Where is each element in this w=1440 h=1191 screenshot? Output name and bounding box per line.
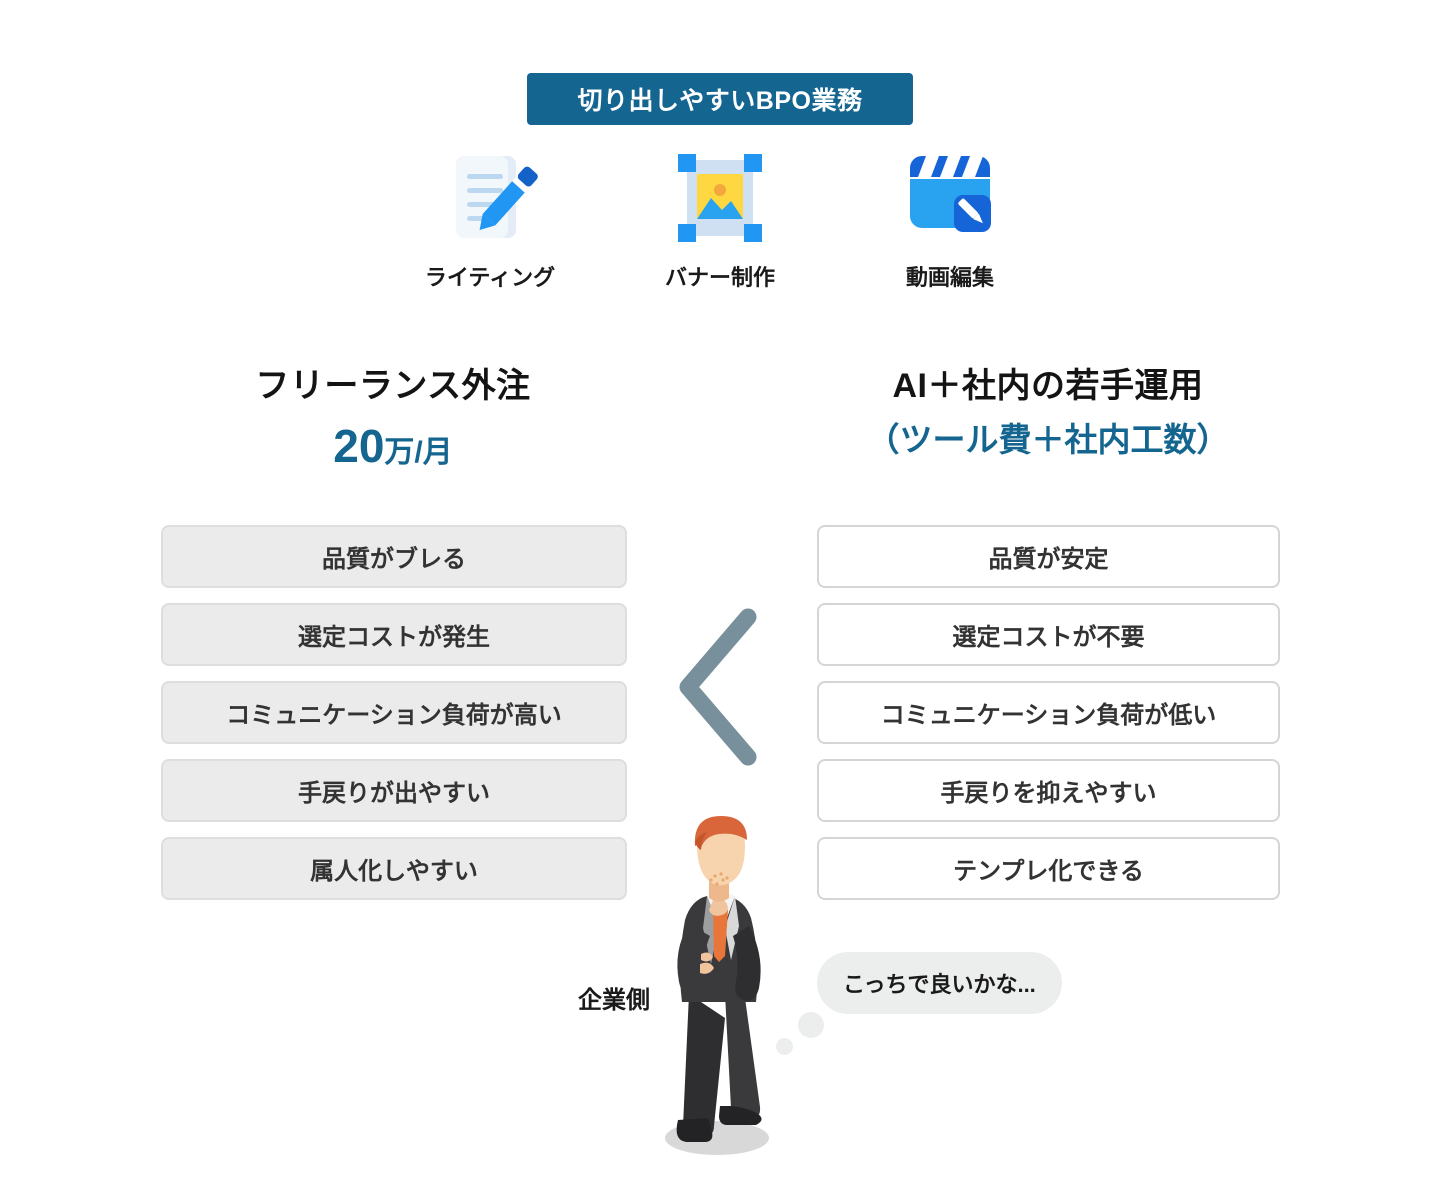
left-column-cost: 20万/月	[153, 423, 633, 469]
list-item: コミュニケーション負荷が低い	[817, 681, 1280, 744]
bpo-task-video: 動画編集	[890, 148, 1010, 298]
list-item: 品質が安定	[817, 525, 1280, 588]
banner-design-icon	[670, 148, 770, 248]
businessman-label: 企業側	[578, 980, 650, 1015]
infographic-canvas: 切り出しやすいBPO業務	[0, 0, 1440, 1191]
thought-bubble-dot-large	[798, 1012, 824, 1038]
list-item: 属人化しやすい	[161, 837, 627, 900]
less-than-chevron-icon	[670, 605, 765, 770]
left-column-title: フリーランス外注	[153, 358, 633, 407]
list-item: 選定コストが不要	[817, 603, 1280, 666]
bpo-task-writing: ライティング	[430, 148, 550, 298]
bpo-task-icon-row: ライティング バナー制作	[405, 148, 1035, 298]
thought-bubble-text: こっちで良いかな...	[843, 967, 1036, 999]
right-column-heading: AI＋社内の若手運用 （ツール費＋社内工数）	[808, 358, 1288, 456]
section-banner-label: 切り出しやすいBPO業務	[578, 81, 863, 117]
left-column-cost-value: 20	[333, 420, 384, 472]
bpo-task-banner: バナー制作	[660, 148, 780, 298]
right-column-title: AI＋社内の若手運用	[808, 358, 1288, 407]
bpo-task-writing-label: ライティング	[425, 260, 555, 292]
bpo-task-video-label: 動画編集	[906, 260, 994, 292]
list-item: 手戻りが出やすい	[161, 759, 627, 822]
businessman-illustration	[645, 808, 795, 1178]
list-item: 品質がブレる	[161, 525, 627, 588]
right-column-subtitle: （ツール費＋社内工数）	[808, 423, 1288, 456]
right-column-list: 品質が安定 選定コストが不要 コミュニケーション負荷が低い 手戻りを抑えやすい …	[817, 525, 1280, 900]
video-editing-icon	[900, 148, 1000, 248]
list-item: コミュニケーション負荷が高い	[161, 681, 627, 744]
left-column-list: 品質がブレる 選定コストが発生 コミュニケーション負荷が高い 手戻りが出やすい …	[161, 525, 627, 900]
thought-bubble: こっちで良いかな...	[817, 952, 1062, 1014]
left-column-cost-unit: 万/月	[384, 436, 452, 469]
section-banner: 切り出しやすいBPO業務	[527, 73, 913, 125]
bpo-task-banner-label: バナー制作	[665, 260, 775, 292]
writing-icon	[440, 148, 540, 248]
thought-bubble-dot-small	[776, 1038, 793, 1055]
left-column-heading: フリーランス外注 20万/月	[153, 358, 633, 469]
list-item: テンプレ化できる	[817, 837, 1280, 900]
list-item: 選定コストが発生	[161, 603, 627, 666]
list-item: 手戻りを抑えやすい	[817, 759, 1280, 822]
